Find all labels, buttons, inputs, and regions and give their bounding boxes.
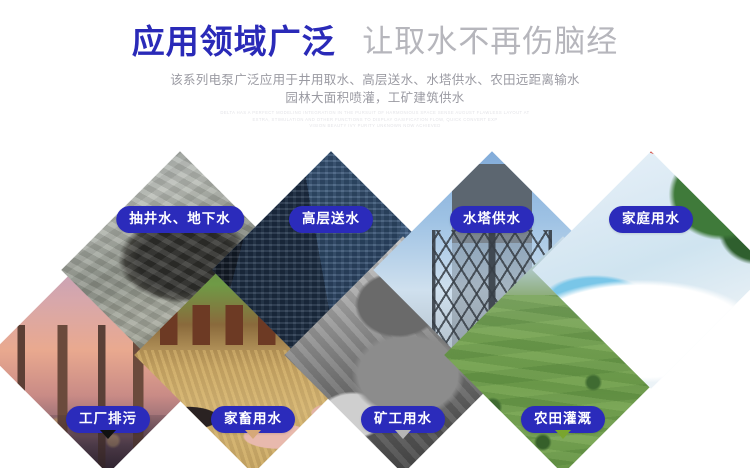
fineprint-line-3: VISION BEAUTY IVY PURITY UNKNOWN NOW ACH… (0, 123, 750, 130)
diamond-tip-miner-water (395, 430, 411, 439)
label-badge-miner-water[interactable]: 矿工用水 (361, 406, 445, 433)
description-line-1: 该系列电泵广泛应用于井用取水、高层送水、水塔供水、农田远距离输水 (0, 71, 750, 89)
label-badge-water-tower[interactable]: 水塔供水 (450, 206, 534, 233)
description: 该系列电泵广泛应用于井用取水、高层送水、水塔供水、农田远距离输水 园林大面积喷灌… (0, 71, 750, 107)
page-subtitle: 让取水不再伤脑经 (362, 22, 618, 62)
diamond-tip-factory-discharge (100, 430, 116, 439)
diamond-tip-farmland-irrigation (555, 430, 571, 439)
label-badge-factory-discharge[interactable]: 工厂排污 (66, 406, 150, 433)
label-badge-farmland-irrigation[interactable]: 农田灌溉 (521, 406, 605, 433)
diamond-tip-livestock-water (245, 430, 261, 439)
label-badge-home-water[interactable]: 家庭用水 (609, 206, 693, 233)
page-title: 应用领域广泛 (132, 22, 336, 62)
promo-banner: 应用领域广泛 让取水不再伤脑经 该系列电泵广泛应用于井用取水、高层送水、水塔供水… (0, 0, 750, 468)
description-line-2: 园林大面积喷灌，工矿建筑供水 (0, 89, 750, 107)
fineprint: DELTA HAS A PERFECT MODELING INTEGRATION… (0, 110, 750, 130)
headline-row: 应用领域广泛 让取水不再伤脑经 (0, 22, 750, 62)
label-badge-highrise-supply[interactable]: 高层送水 (289, 206, 373, 233)
label-badge-livestock-water[interactable]: 家畜用水 (211, 406, 295, 433)
label-badge-well-groundwater[interactable]: 抽井水、地下水 (116, 206, 244, 233)
